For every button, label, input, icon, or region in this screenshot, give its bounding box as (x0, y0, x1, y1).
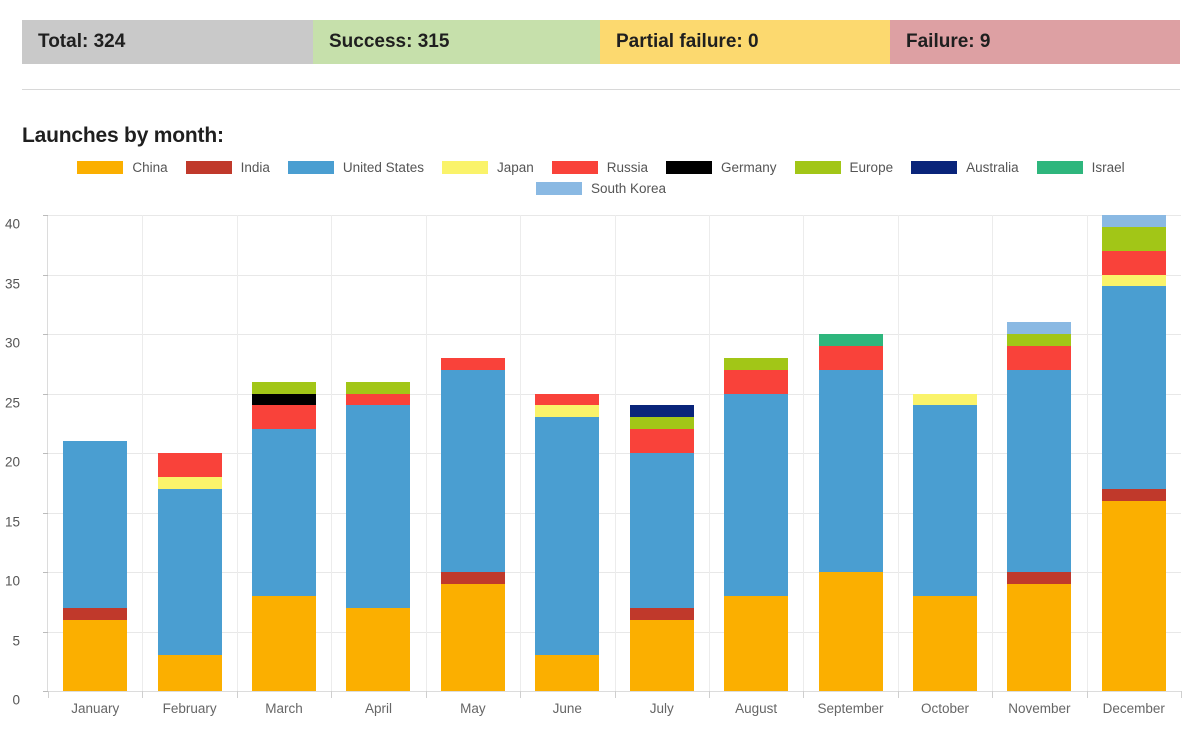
summary-divider (22, 89, 1180, 90)
x-tick-mark (1087, 691, 1088, 698)
legend-item-label: Japan (497, 160, 534, 175)
x-axis-tick-label: July (650, 701, 674, 716)
bar-segment-australia[interactable] (630, 405, 694, 417)
bar-march[interactable] (252, 382, 316, 691)
bar-segment-china[interactable] (158, 655, 222, 691)
bar-segment-europe[interactable] (252, 382, 316, 394)
legend-item-united-states[interactable]: United States (288, 160, 424, 175)
legend-swatch-icon (288, 161, 334, 174)
bar-segment-china[interactable] (346, 608, 410, 691)
bar-september[interactable] (819, 334, 883, 691)
y-tick-mark (43, 275, 48, 276)
legend-item-japan[interactable]: Japan (442, 160, 534, 175)
legend-item-india[interactable]: India (186, 160, 270, 175)
legend-item-china[interactable]: China (77, 160, 167, 175)
x-axis-tick-label: January (71, 701, 119, 716)
y-tick-mark (43, 215, 48, 216)
x-tick-mark (48, 691, 49, 698)
bar-segment-russia[interactable] (346, 394, 410, 406)
gridline-x (709, 215, 710, 691)
bar-segment-russia[interactable] (819, 346, 883, 370)
bar-segment-india[interactable] (441, 572, 505, 584)
bar-segment-japan[interactable] (158, 477, 222, 489)
y-tick-mark (43, 394, 48, 395)
bar-segment-india[interactable] (1007, 572, 1071, 584)
legend-swatch-icon (442, 161, 488, 174)
bar-august[interactable] (724, 358, 788, 691)
bar-segment-united-states[interactable] (252, 429, 316, 596)
bar-segment-russia[interactable] (1007, 346, 1071, 370)
bar-segment-united-states[interactable] (346, 405, 410, 607)
y-tick-mark (43, 572, 48, 573)
x-axis-tick-label: September (818, 701, 884, 716)
bar-segment-europe[interactable] (1007, 334, 1071, 346)
bar-segment-germany[interactable] (252, 394, 316, 406)
bar-segment-india[interactable] (63, 608, 127, 620)
legend-swatch-icon (552, 161, 598, 174)
bar-segment-united-states[interactable] (819, 370, 883, 572)
gridline-x (615, 215, 616, 691)
legend-item-label: Russia (607, 160, 648, 175)
legend-swatch-icon (186, 161, 232, 174)
legend-swatch-icon (795, 161, 841, 174)
bar-segment-south-korea[interactable] (1102, 215, 1166, 227)
bar-segment-china[interactable] (441, 584, 505, 691)
bar-segment-united-states[interactable] (63, 441, 127, 608)
x-tick-mark (331, 691, 332, 698)
bar-segment-russia[interactable] (158, 453, 222, 477)
y-axis-tick-label: 35 (5, 276, 20, 291)
legend-swatch-icon (911, 161, 957, 174)
legend-item-label: Europe (850, 160, 894, 175)
gridline-x (426, 215, 427, 691)
gridline-x (142, 215, 143, 691)
bar-segment-russia[interactable] (724, 370, 788, 394)
x-tick-mark (237, 691, 238, 698)
bar-segment-europe[interactable] (630, 417, 694, 429)
legend-item-south-korea[interactable]: South Korea (536, 181, 666, 196)
y-axis-tick-label: 15 (5, 514, 20, 529)
bar-segment-europe[interactable] (346, 382, 410, 394)
legend-item-label: China (132, 160, 167, 175)
summary-partial-label: Partial failure: 0 (616, 31, 759, 53)
summary-total: Total: 324 (22, 20, 313, 64)
launch-summary-bar: Total: 324 Success: 315 Partial failure:… (22, 20, 1180, 64)
bar-segment-china[interactable] (1102, 501, 1166, 691)
summary-success-label: Success: 315 (329, 31, 449, 53)
x-axis-tick-label: October (921, 701, 969, 716)
bar-segment-united-states[interactable] (441, 370, 505, 572)
bar-february[interactable] (158, 453, 222, 691)
bar-april[interactable] (346, 382, 410, 691)
bar-segment-united-states[interactable] (630, 453, 694, 608)
x-tick-mark (898, 691, 899, 698)
bar-segment-united-states[interactable] (158, 489, 222, 656)
bar-segment-china[interactable] (63, 620, 127, 691)
gridline-x (1087, 215, 1088, 691)
chart-legend: ChinaIndiaUnited StatesJapanRussiaGerman… (22, 160, 1180, 196)
bar-segment-russia[interactable] (252, 405, 316, 429)
bar-segment-russia[interactable] (441, 358, 505, 370)
summary-total-label: Total: 324 (38, 31, 125, 53)
bar-segment-china[interactable] (724, 596, 788, 691)
legend-item-australia[interactable]: Australia (911, 160, 1019, 175)
y-tick-mark (43, 334, 48, 335)
bar-january[interactable] (63, 441, 127, 691)
bar-segment-united-states[interactable] (1007, 370, 1071, 572)
bar-segment-china[interactable] (1007, 584, 1071, 691)
x-axis-tick-label: June (553, 701, 582, 716)
bar-segment-israel[interactable] (819, 334, 883, 346)
summary-partial-failure: Partial failure: 0 (600, 20, 890, 64)
bar-segment-japan[interactable] (913, 394, 977, 406)
legend-item-russia[interactable]: Russia (552, 160, 648, 175)
chart-title: Launches by month: (22, 124, 224, 148)
bar-segment-russia[interactable] (535, 394, 599, 406)
bar-june[interactable] (535, 394, 599, 691)
bar-segment-united-states[interactable] (913, 405, 977, 595)
y-axis-tick-label: 30 (5, 336, 20, 351)
x-axis-tick-label: March (265, 701, 303, 716)
y-axis-tick-label: 20 (5, 455, 20, 470)
bar-segment-europe[interactable] (1102, 227, 1166, 251)
x-tick-mark (520, 691, 521, 698)
gridline-x (520, 215, 521, 691)
bar-segment-china[interactable] (535, 655, 599, 691)
bar-december[interactable] (1102, 215, 1166, 691)
bar-segment-south-korea[interactable] (1007, 322, 1071, 334)
bar-segment-china[interactable] (252, 596, 316, 691)
bar-segment-russia[interactable] (1102, 251, 1166, 275)
plot-area: 0510152025303540JanuaryFebruaryMarchApri… (47, 215, 1181, 691)
gridline-x (992, 215, 993, 691)
legend-item-label: Australia (966, 160, 1019, 175)
summary-failure: Failure: 9 (890, 20, 1180, 64)
legend-item-israel[interactable]: Israel (1037, 160, 1125, 175)
legend-swatch-icon (536, 182, 582, 195)
bar-segment-united-states[interactable] (724, 394, 788, 596)
y-tick-mark (43, 453, 48, 454)
x-axis-tick-label: April (365, 701, 392, 716)
legend-item-europe[interactable]: Europe (795, 160, 894, 175)
y-axis-tick-label: 40 (5, 217, 20, 232)
legend-item-label: Israel (1092, 160, 1125, 175)
bar-october[interactable] (913, 394, 977, 691)
bar-segment-china[interactable] (913, 596, 977, 691)
bar-segment-japan[interactable] (1102, 275, 1166, 287)
summary-failure-label: Failure: 9 (906, 31, 990, 53)
bar-segment-united-states[interactable] (1102, 286, 1166, 488)
x-tick-mark (709, 691, 710, 698)
y-tick-mark (43, 513, 48, 514)
x-axis-tick-label: May (460, 701, 486, 716)
bar-may[interactable] (441, 358, 505, 691)
bar-segment-united-states[interactable] (535, 417, 599, 655)
bar-segment-india[interactable] (1102, 489, 1166, 501)
x-axis-tick-label: November (1008, 701, 1070, 716)
gridline-x (803, 215, 804, 691)
legend-swatch-icon (666, 161, 712, 174)
x-tick-mark (803, 691, 804, 698)
legend-item-germany[interactable]: Germany (666, 160, 777, 175)
bar-november[interactable] (1007, 322, 1071, 691)
bar-segment-russia[interactable] (630, 429, 694, 453)
bar-segment-china[interactable] (630, 620, 694, 691)
launches-by-month-chart: 0510152025303540JanuaryFebruaryMarchApri… (0, 206, 1200, 748)
bar-segment-india[interactable] (630, 608, 694, 620)
bar-segment-china[interactable] (819, 572, 883, 691)
legend-item-label: India (241, 160, 270, 175)
legend-item-label: Germany (721, 160, 777, 175)
y-axis-tick-label: 0 (12, 693, 20, 708)
y-axis-tick-label: 10 (5, 574, 20, 589)
gridline-x (331, 215, 332, 691)
gridline-x (898, 215, 899, 691)
x-tick-mark (992, 691, 993, 698)
y-axis-tick-label: 25 (5, 395, 20, 410)
x-axis-tick-label: August (735, 701, 777, 716)
gridline-x (237, 215, 238, 691)
x-tick-mark (142, 691, 143, 698)
summary-success: Success: 315 (313, 20, 600, 64)
legend-item-label: South Korea (591, 181, 666, 196)
bar-segment-japan[interactable] (535, 405, 599, 417)
bar-segment-europe[interactable] (724, 358, 788, 370)
x-axis-tick-label: February (163, 701, 217, 716)
legend-item-label: United States (343, 160, 424, 175)
legend-swatch-icon (1037, 161, 1083, 174)
y-axis-tick-label: 5 (12, 633, 20, 648)
legend-swatch-icon (77, 161, 123, 174)
bar-july[interactable] (630, 405, 694, 691)
x-tick-mark (426, 691, 427, 698)
x-tick-mark (615, 691, 616, 698)
x-axis-tick-label: December (1103, 701, 1165, 716)
x-tick-mark (1181, 691, 1182, 698)
y-tick-mark (43, 632, 48, 633)
